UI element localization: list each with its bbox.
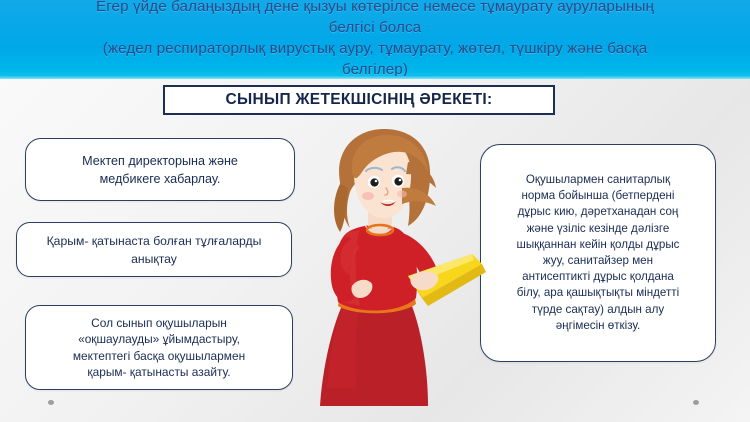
callout-notify-text: Мектеп директорына және медбикеге хабарл… (82, 152, 238, 188)
callout-sanitary-rules: Оқушылармен санитарлық норма бойынша (бе… (480, 144, 716, 362)
callout-sanitary-text: Оқушылармен санитарлық норма бойынша (бе… (517, 172, 680, 334)
callout-contacts-text: Қарым- қатынаста болған тұлғаларды анықт… (47, 232, 262, 268)
header-text: Егер үйде балаңыздың дене қызуы көтерілс… (0, 0, 750, 80)
teacher-with-book-icon (296, 126, 496, 416)
section-title-label: СЫНЫП ЖЕТЕКШІСІНІҢ ӘРЕКЕТІ: (226, 91, 493, 109)
callout-isolate-text: Сол сынып оқушыларын «оқшаулауды» ұйымда… (73, 315, 245, 381)
presentation-slide: Егер үйде балаңыздың дене қызуы көтерілс… (0, 0, 750, 422)
nav-dot-right-icon[interactable] (693, 400, 699, 405)
callout-organize-isolation: Сол сынып оқушыларын «оқшаулауды» ұйымда… (25, 305, 293, 390)
header-banner: Егер үйде балаңыздың дене қызуы көтерілс… (0, 0, 750, 79)
section-title-box: СЫНЫП ЖЕТЕКШІСІНІҢ ӘРЕКЕТІ: (163, 85, 555, 115)
callout-notify-director: Мектеп директорына және медбикеге хабарл… (25, 138, 295, 201)
nav-dot-left-icon[interactable] (48, 400, 54, 405)
callout-identify-contacts: Қарым- қатынаста болған тұлғаларды анықт… (16, 222, 292, 277)
